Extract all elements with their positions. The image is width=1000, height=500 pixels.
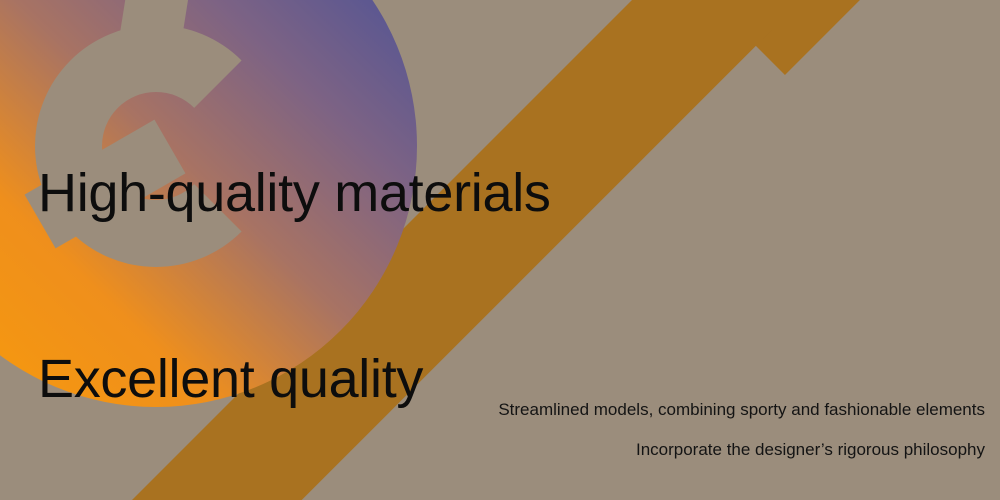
subcopy-line-2: Incorporate the designer’s rigorous phil… <box>345 430 985 470</box>
promo-banner: High-quality materials Excellent quality… <box>0 0 1000 500</box>
subcopy-block: Streamlined models, combining sporty and… <box>345 390 985 470</box>
headline-line-1: High-quality materials <box>38 162 551 224</box>
subcopy-line-1: Streamlined models, combining sporty and… <box>345 390 985 430</box>
